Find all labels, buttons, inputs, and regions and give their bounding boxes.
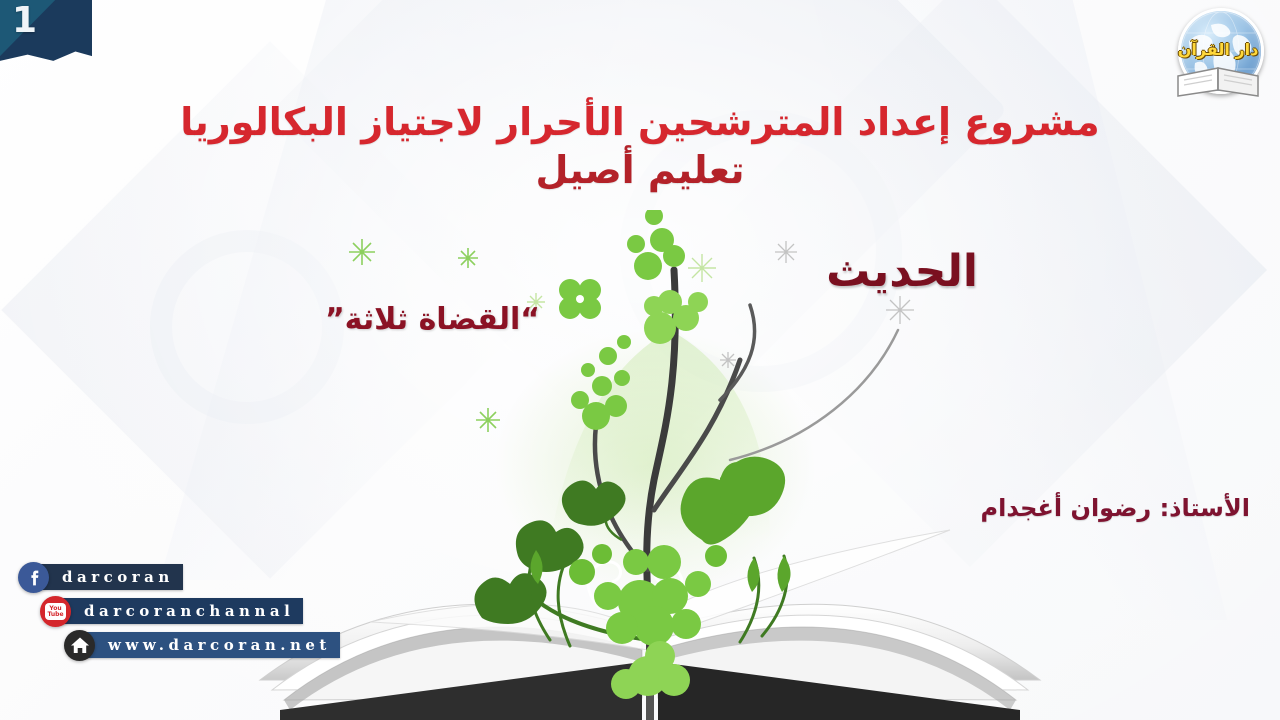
home-icon[interactable] bbox=[64, 630, 95, 661]
open-book-icon bbox=[1172, 58, 1264, 100]
teacher-name: الأستاذ: رضوان أغجدام bbox=[981, 494, 1251, 522]
facebook-handle: darcoran bbox=[34, 564, 183, 590]
facebook-glyph bbox=[25, 569, 43, 587]
social-badges: darcoran darcoranchannal YouTube www.dar… bbox=[18, 562, 378, 664]
youtube-glyph: YouTube bbox=[45, 603, 66, 620]
youtube-icon[interactable]: YouTube bbox=[40, 596, 71, 627]
headline-line-1: مشروع إعداد المترشحين الأحرار لاجتياز ال… bbox=[0, 100, 1280, 145]
subject-subtitle: “القضاة ثلاثة” bbox=[325, 302, 540, 337]
headline-line-2: تعليم أصيل bbox=[0, 147, 1280, 195]
logo-arabic-text: دار القرآن bbox=[1174, 40, 1262, 59]
youtube-handle: darcoranchannal bbox=[56, 598, 303, 624]
headline-block: مشروع إعداد المترشحين الأحرار لاجتياز ال… bbox=[0, 100, 1280, 194]
brand-logo[interactable]: دار القرآن bbox=[1170, 6, 1266, 104]
social-badge-website[interactable]: www.darcoran.net bbox=[18, 630, 378, 661]
social-badge-facebook[interactable]: darcoran bbox=[18, 562, 378, 593]
home-glyph bbox=[70, 636, 90, 655]
logo-book-svg bbox=[1172, 58, 1264, 100]
subject-title: الحديث bbox=[826, 246, 978, 297]
slide-number-ribbon: 1 bbox=[0, 0, 92, 78]
slide-number: 1 bbox=[12, 3, 37, 39]
social-badge-youtube[interactable]: darcoranchannal YouTube bbox=[18, 596, 378, 627]
facebook-icon[interactable] bbox=[18, 562, 49, 593]
slide-canvas: 1 bbox=[0, 0, 1280, 720]
website-url: www.darcoran.net bbox=[80, 632, 340, 658]
